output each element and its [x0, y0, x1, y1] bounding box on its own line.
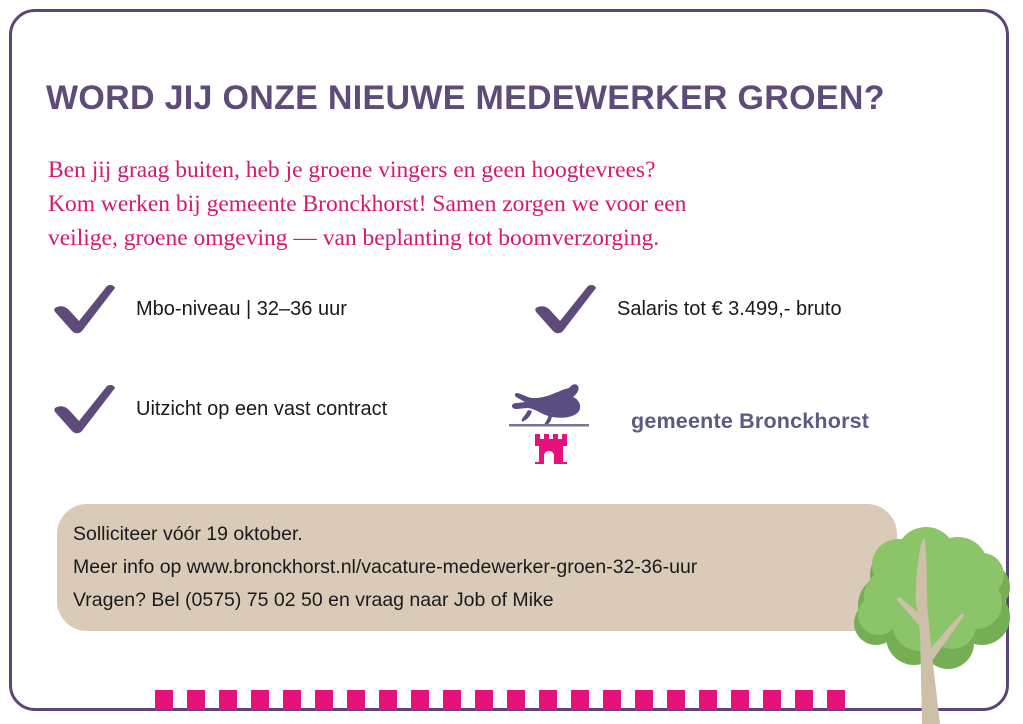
dash-square: [283, 690, 301, 710]
dash-square: [539, 690, 557, 710]
dash-square: [315, 690, 333, 710]
info-line-deadline: Solliciteer vóór 19 oktober.: [73, 518, 897, 551]
dash-square: [475, 690, 493, 710]
info-box: Solliciteer vóór 19 oktober. Meer info o…: [57, 504, 897, 631]
dash-square: [571, 690, 589, 710]
benefit-item: Uitzicht op een vast contract: [52, 383, 387, 435]
dash-square: [699, 690, 717, 710]
dash-square: [603, 690, 621, 710]
benefit-label: Uitzicht op een vast contract: [136, 398, 387, 421]
logo-divider: [509, 424, 589, 427]
logo-mark: [503, 378, 595, 464]
dash-square: [635, 690, 653, 710]
dash-square: [155, 690, 173, 710]
intro-line: veilige, groene omgeving — van beplantin…: [48, 221, 868, 255]
info-line-phone: Vragen? Bel (0575) 75 02 50 en vraag naa…: [73, 584, 897, 617]
municipality-logo: gemeente Bronckhorst: [503, 378, 869, 464]
dash-square: [443, 690, 461, 710]
page-title: WORD JIJ ONZE NIEUWE MEDEWERKER GROEN?: [46, 79, 885, 118]
benefit-label: Salaris tot € 3.499,- bruto: [617, 298, 842, 321]
benefit-item: Salaris tot € 3.499,- bruto: [533, 283, 842, 335]
rabbit-icon: [512, 384, 580, 425]
intro-line: Ben jij graag buiten, heb je groene ving…: [48, 153, 868, 187]
checkmark-icon: [52, 283, 118, 335]
logo-wordmark: gemeente Bronckhorst: [631, 409, 869, 434]
dash-square: [795, 690, 813, 710]
intro-line: Kom werken bij gemeente Bronckhorst! Sam…: [48, 187, 868, 221]
dash-square: [667, 690, 685, 710]
checkmark-icon: [52, 383, 118, 435]
dash-square: [507, 690, 525, 710]
dash-square: [827, 690, 845, 710]
checkmark-icon: [533, 283, 599, 335]
castle-tower-icon: [535, 434, 567, 464]
intro-paragraph: Ben jij graag buiten, heb je groene ving…: [48, 153, 868, 255]
poster-canvas: WORD JIJ ONZE NIEUWE MEDEWERKER GROEN? B…: [0, 0, 1023, 724]
dash-square: [251, 690, 269, 710]
benefit-label: Mbo-niveau | 32–36 uur: [136, 298, 347, 321]
dash-square: [347, 690, 365, 710]
benefit-item: Mbo-niveau | 32–36 uur: [52, 283, 347, 335]
dash-square: [411, 690, 429, 710]
dash-square: [731, 690, 749, 710]
dash-square: [187, 690, 205, 710]
dash-square: [379, 690, 397, 710]
dash-square: [219, 690, 237, 710]
dash-decoration-row: [155, 690, 875, 710]
dash-square: [763, 690, 781, 710]
info-line-url[interactable]: Meer info op www.bronckhorst.nl/vacature…: [73, 551, 897, 584]
